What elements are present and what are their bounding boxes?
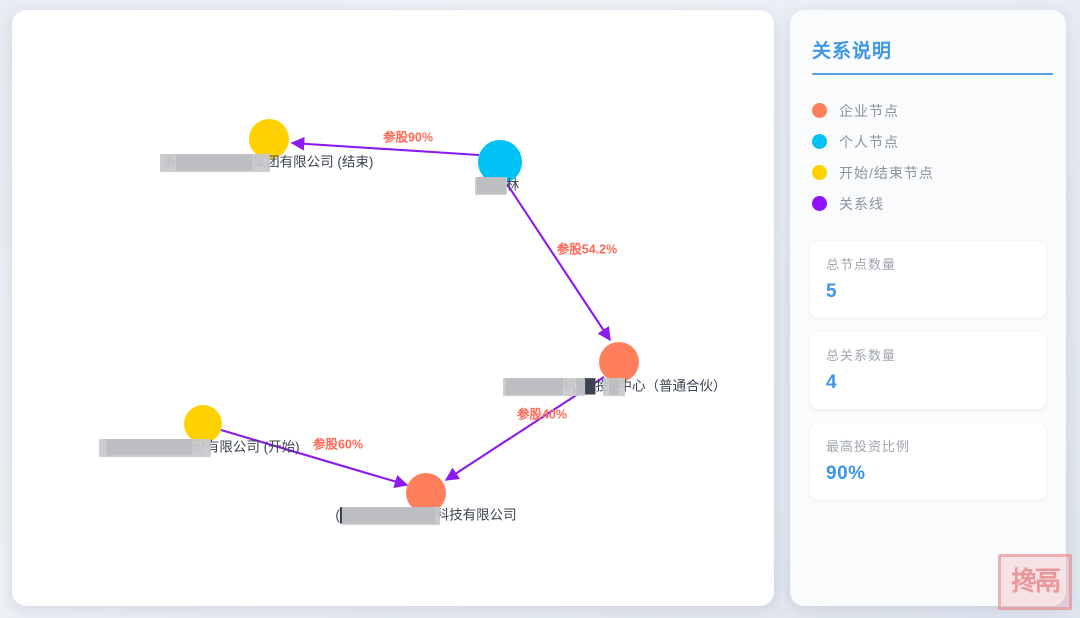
stat-label: 最高投资比例 bbox=[826, 436, 1030, 455]
stat-value: 5 bbox=[826, 281, 1030, 303]
graph-node-company[interactable] bbox=[599, 342, 639, 382]
graph-node-terminal[interactable] bbox=[249, 119, 289, 159]
edge-label: 参股40% bbox=[517, 406, 567, 421]
legend-sidebar: 关系说明 企业节点个人节点开始/结束节点关系线 总节点数量5总关系数量4最高投资… bbox=[790, 10, 1066, 606]
stat-card: 总关系数量4 bbox=[810, 332, 1046, 409]
legend-label: 个人节点 bbox=[839, 132, 899, 152]
graph-canvas[interactable]: 浙████████集团有限公司 (结束)███林██████杭██投█中心（普通… bbox=[12, 10, 774, 606]
circle-icon bbox=[812, 134, 827, 149]
legend-label: 关系线 bbox=[839, 194, 884, 214]
edge-label: 参股60% bbox=[313, 436, 363, 451]
title-divider bbox=[812, 73, 1053, 75]
stat-card: 最高投资比例90% bbox=[810, 423, 1046, 500]
circle-icon bbox=[812, 165, 827, 180]
graph-node-terminal[interactable] bbox=[184, 405, 222, 443]
legend-row: 关系线 bbox=[812, 188, 1046, 219]
redaction-block bbox=[503, 378, 585, 396]
circle-icon bbox=[812, 196, 827, 211]
edge-label: 参股54.2% bbox=[557, 241, 617, 256]
edge-label: 参股90% bbox=[383, 129, 433, 144]
legend-row: 个人节点 bbox=[812, 126, 1046, 157]
stats-list: 总节点数量5总关系数量4最高投资比例90% bbox=[810, 241, 1046, 500]
stat-label: 总关系数量 bbox=[826, 345, 1030, 364]
stat-label: 总节点数量 bbox=[826, 254, 1030, 273]
redaction-block bbox=[342, 507, 440, 525]
redaction-block bbox=[475, 177, 507, 195]
stat-value: 4 bbox=[826, 372, 1030, 394]
edges-layer bbox=[221, 143, 610, 485]
panel-title: 关系说明 bbox=[812, 36, 1046, 63]
stat-card: 总节点数量5 bbox=[810, 241, 1046, 318]
node-labels-layer: 浙████████集团有限公司 (结束)███林██████杭██投█中心（普通… bbox=[99, 154, 727, 525]
app-root: 浙████████集团有限公司 (结束)███林██████杭██投█中心（普通… bbox=[0, 0, 1080, 618]
legend-label: 开始/结束节点 bbox=[839, 163, 934, 183]
edge-labels-layer: 参股90%参股54.2%参股40%参股60% bbox=[313, 129, 617, 451]
legend-row: 企业节点 bbox=[812, 95, 1046, 126]
legend-label: 企业节点 bbox=[839, 101, 899, 121]
redaction-block bbox=[603, 378, 625, 396]
stat-value: 90% bbox=[826, 463, 1030, 485]
legend-list: 企业节点个人节点开始/结束节点关系线 bbox=[812, 95, 1046, 219]
circle-icon bbox=[812, 103, 827, 118]
redaction-block bbox=[160, 154, 270, 172]
relationship-edge[interactable] bbox=[292, 143, 479, 155]
redaction-block bbox=[99, 439, 211, 457]
legend-row: 开始/结束节点 bbox=[812, 157, 1046, 188]
relationship-edge[interactable] bbox=[507, 184, 610, 340]
relationship-graph-card[interactable]: 浙████████集团有限公司 (结束)███林██████杭██投█中心（普通… bbox=[12, 10, 774, 606]
